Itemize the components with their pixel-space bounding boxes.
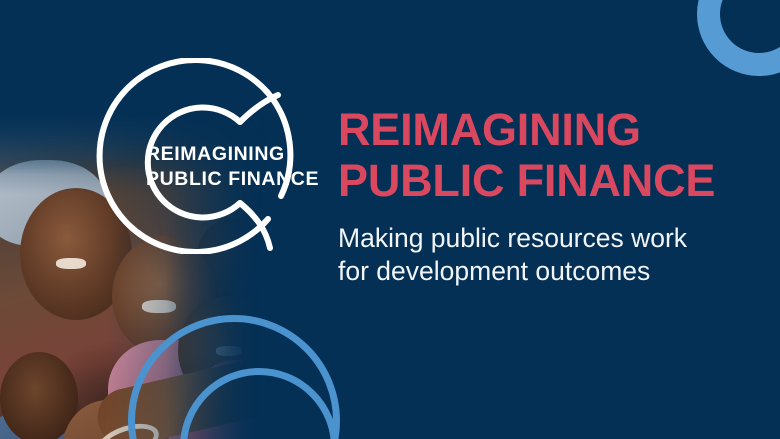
subtitle: Making public resources work for develop… bbox=[338, 222, 758, 288]
logo-wordmark: REIMAGINING PUBLIC FINANCE bbox=[146, 142, 346, 192]
headline-block: REIMAGINING PUBLIC FINANCE Making public… bbox=[338, 104, 758, 288]
promotional-banner: REIMAGINING PUBLIC FINANCE REIMAGINING P… bbox=[0, 0, 780, 439]
logo: REIMAGINING PUBLIC FINANCE bbox=[34, 58, 324, 254]
title-line-1: REIMAGINING bbox=[338, 104, 758, 155]
title-line-2: PUBLIC FINANCE bbox=[338, 155, 758, 206]
top-right-ring-decoration bbox=[697, 0, 780, 76]
